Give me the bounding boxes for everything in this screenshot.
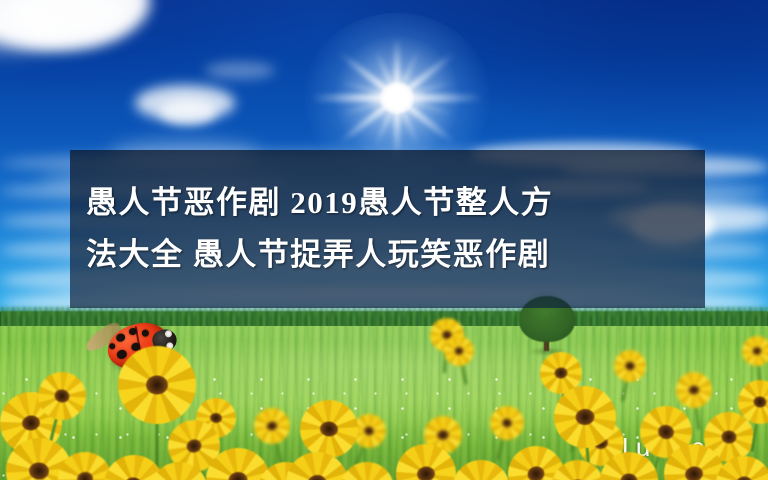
flower-icon <box>118 346 196 424</box>
title-block: 愚人节恶作剧 2019愚人节整人方 法大全 愚人节捉弄人玩笑恶作剧 <box>70 150 705 308</box>
flower-icon <box>735 377 768 427</box>
flower-center <box>146 376 168 395</box>
cloud-icon <box>160 99 216 125</box>
flower-icon <box>552 384 618 450</box>
flower-icon <box>441 333 477 369</box>
flower-icon <box>598 450 661 480</box>
title-line-1: 愚人节恶作剧 2019愚人节整人方 <box>86 177 705 229</box>
flower-icon <box>741 335 768 368</box>
flower-icon <box>611 347 649 385</box>
cloud-icon <box>205 62 275 79</box>
flower-icon <box>393 441 459 480</box>
title-line-2: 法大全 愚人节捉弄人玩笑恶作剧 <box>86 229 705 281</box>
flower-icon <box>674 370 714 410</box>
banner-image: 愚人节恶作剧 2019愚人节整人方 法大全 愚人节捉弄人玩笑恶作剧 @Lu-xu… <box>0 0 768 480</box>
sun-core <box>380 82 414 114</box>
